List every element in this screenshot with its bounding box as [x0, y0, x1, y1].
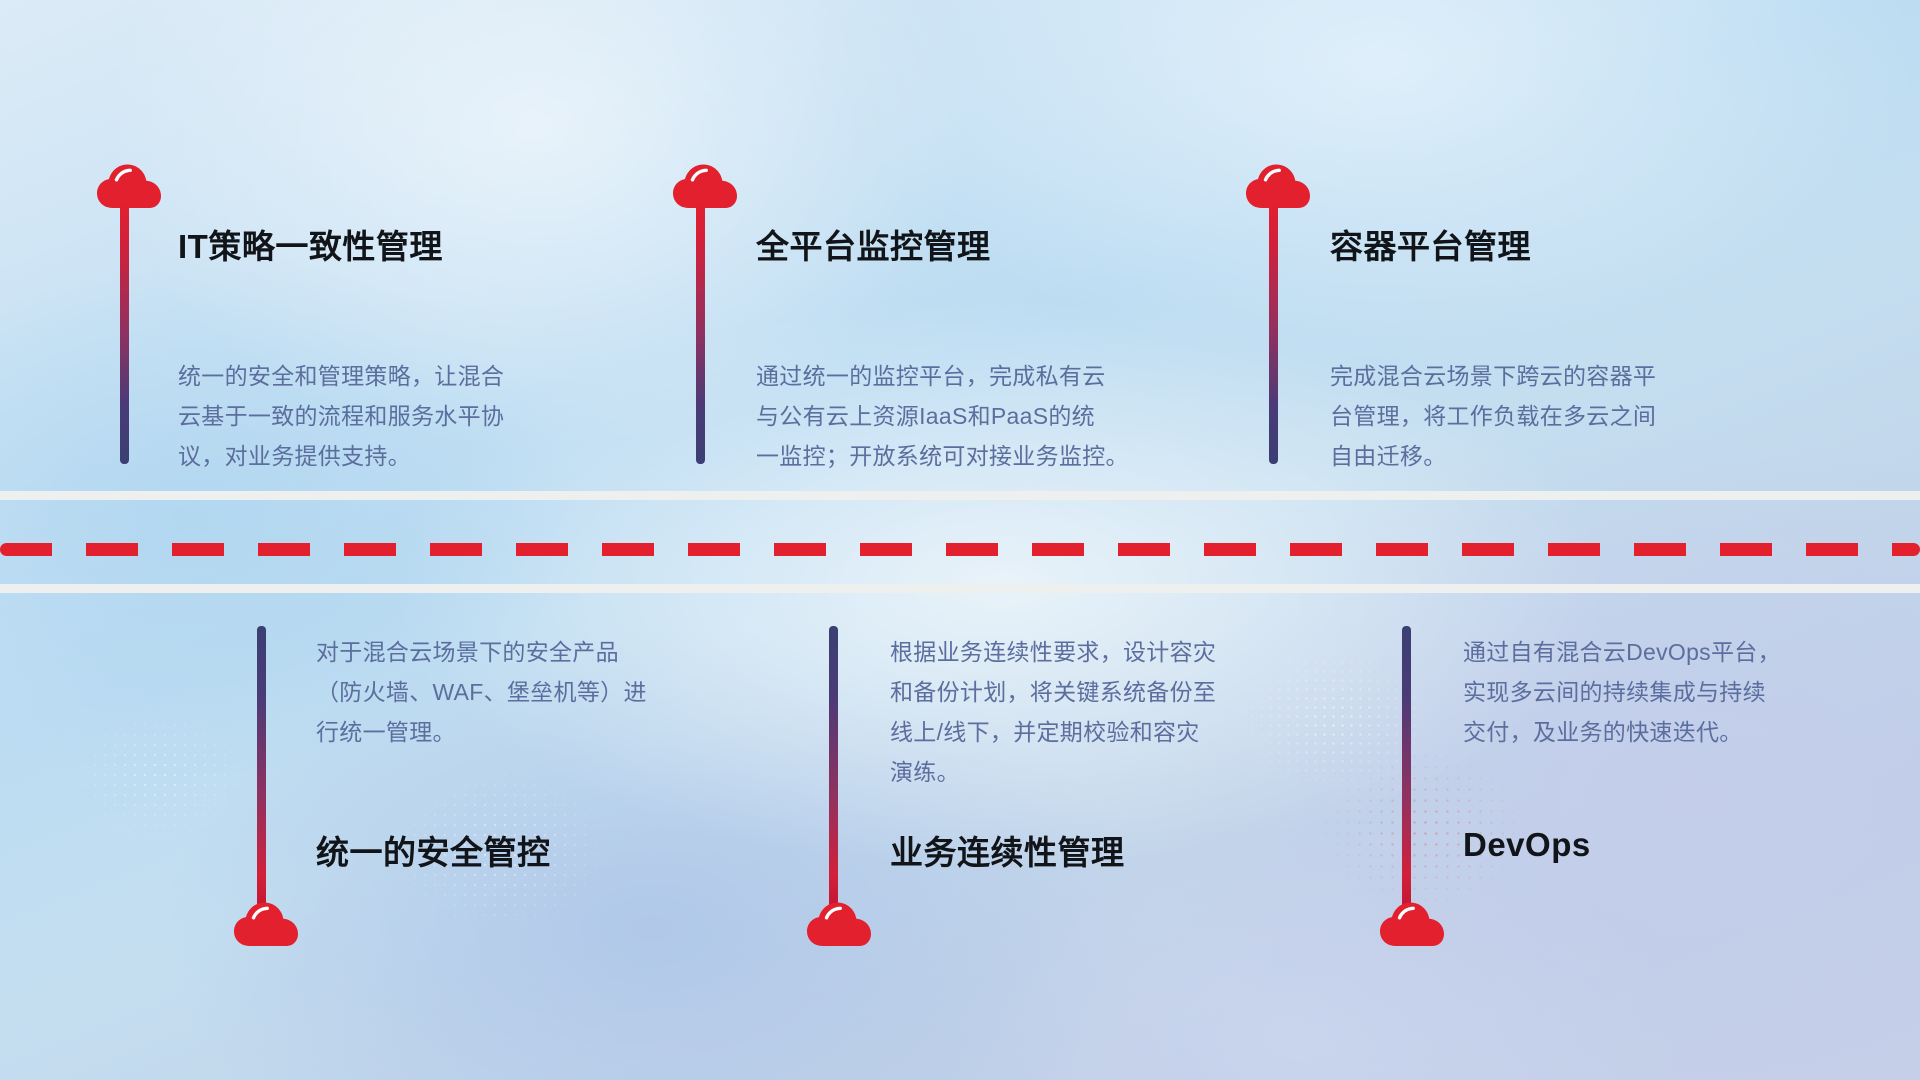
connector-stem: [257, 626, 266, 916]
connector-stem: [829, 626, 838, 916]
card-body-line: 一监控；开放系统可对接业务监控。: [756, 436, 1206, 476]
card-body-line: 通过自有混合云DevOps平台，: [1463, 632, 1883, 672]
card-title: IT策略一致性管理: [178, 220, 443, 268]
card-title: DevOps: [1463, 826, 1591, 864]
connector-stem: [1402, 626, 1411, 916]
card-title: 统一的安全管控: [316, 826, 551, 874]
connector-stem: [696, 202, 705, 464]
card-body-line: 交付，及业务的快速迭代。: [1463, 712, 1883, 752]
cloud-icon: [1379, 900, 1445, 948]
connector-stem: [120, 202, 129, 464]
cloud-icon: [806, 900, 872, 948]
card-body: 根据业务连续性要求，设计容灾 和备份计划，将关键系统备份至 线上/线下，并定期校…: [890, 632, 1330, 792]
card-body-line: 台管理，将工作负载在多云之间: [1330, 396, 1760, 436]
card-body: 对于混合云场景下的安全产品 （防火墙、WAF、堡垒机等）进 行统一管理。: [316, 632, 746, 752]
card-body-line: 议，对业务提供支持。: [178, 436, 608, 476]
decorative-dot-cluster: [60, 700, 260, 850]
connector-stem: [1269, 202, 1278, 464]
card-title: 业务连续性管理: [890, 826, 1125, 874]
card-body-line: 和备份计划，将关键系统备份至: [890, 672, 1330, 712]
cloud-icon: [1245, 162, 1311, 210]
card-body-line: 统一的安全和管理策略，让混合: [178, 356, 608, 396]
card-body-line: 完成混合云场景下跨云的容器平: [1330, 356, 1760, 396]
card-title: 全平台监控管理: [756, 220, 991, 268]
separator-line-bottom: [0, 584, 1920, 593]
card-body: 完成混合云场景下跨云的容器平 台管理，将工作负载在多云之间 自由迁移。: [1330, 356, 1760, 476]
card-body-line: 线上/线下，并定期校验和容灾: [890, 712, 1330, 752]
card-body-line: 通过统一的监控平台，完成私有云: [756, 356, 1206, 396]
card-body-line: 自由迁移。: [1330, 436, 1760, 476]
card-body-line: 演练。: [890, 752, 1330, 792]
card-body: 通过统一的监控平台，完成私有云 与公有云上资源IaaS和PaaS的统 一监控；开…: [756, 356, 1206, 476]
infographic-canvas: IT策略一致性管理 统一的安全和管理策略，让混合 云基于一致的流程和服务水平协 …: [0, 0, 1920, 1080]
cloud-icon: [96, 162, 162, 210]
cloud-icon: [233, 900, 299, 948]
card-body: 通过自有混合云DevOps平台， 实现多云间的持续集成与持续 交付，及业务的快速…: [1463, 632, 1883, 752]
card-body: 统一的安全和管理策略，让混合 云基于一致的流程和服务水平协 议，对业务提供支持。: [178, 356, 608, 476]
cloud-icon: [672, 162, 738, 210]
card-body-line: （防火墙、WAF、堡垒机等）进: [316, 672, 746, 712]
separator-line-top: [0, 491, 1920, 500]
card-body-line: 根据业务连续性要求，设计容灾: [890, 632, 1330, 672]
card-body-line: 与公有云上资源IaaS和PaaS的统: [756, 396, 1206, 436]
card-title: 容器平台管理: [1330, 220, 1531, 268]
card-body-line: 行统一管理。: [316, 712, 746, 752]
dashed-divider: [0, 543, 1920, 556]
card-body-line: 实现多云间的持续集成与持续: [1463, 672, 1883, 712]
card-body-line: 对于混合云场景下的安全产品: [316, 632, 746, 672]
card-body-line: 云基于一致的流程和服务水平协: [178, 396, 608, 436]
